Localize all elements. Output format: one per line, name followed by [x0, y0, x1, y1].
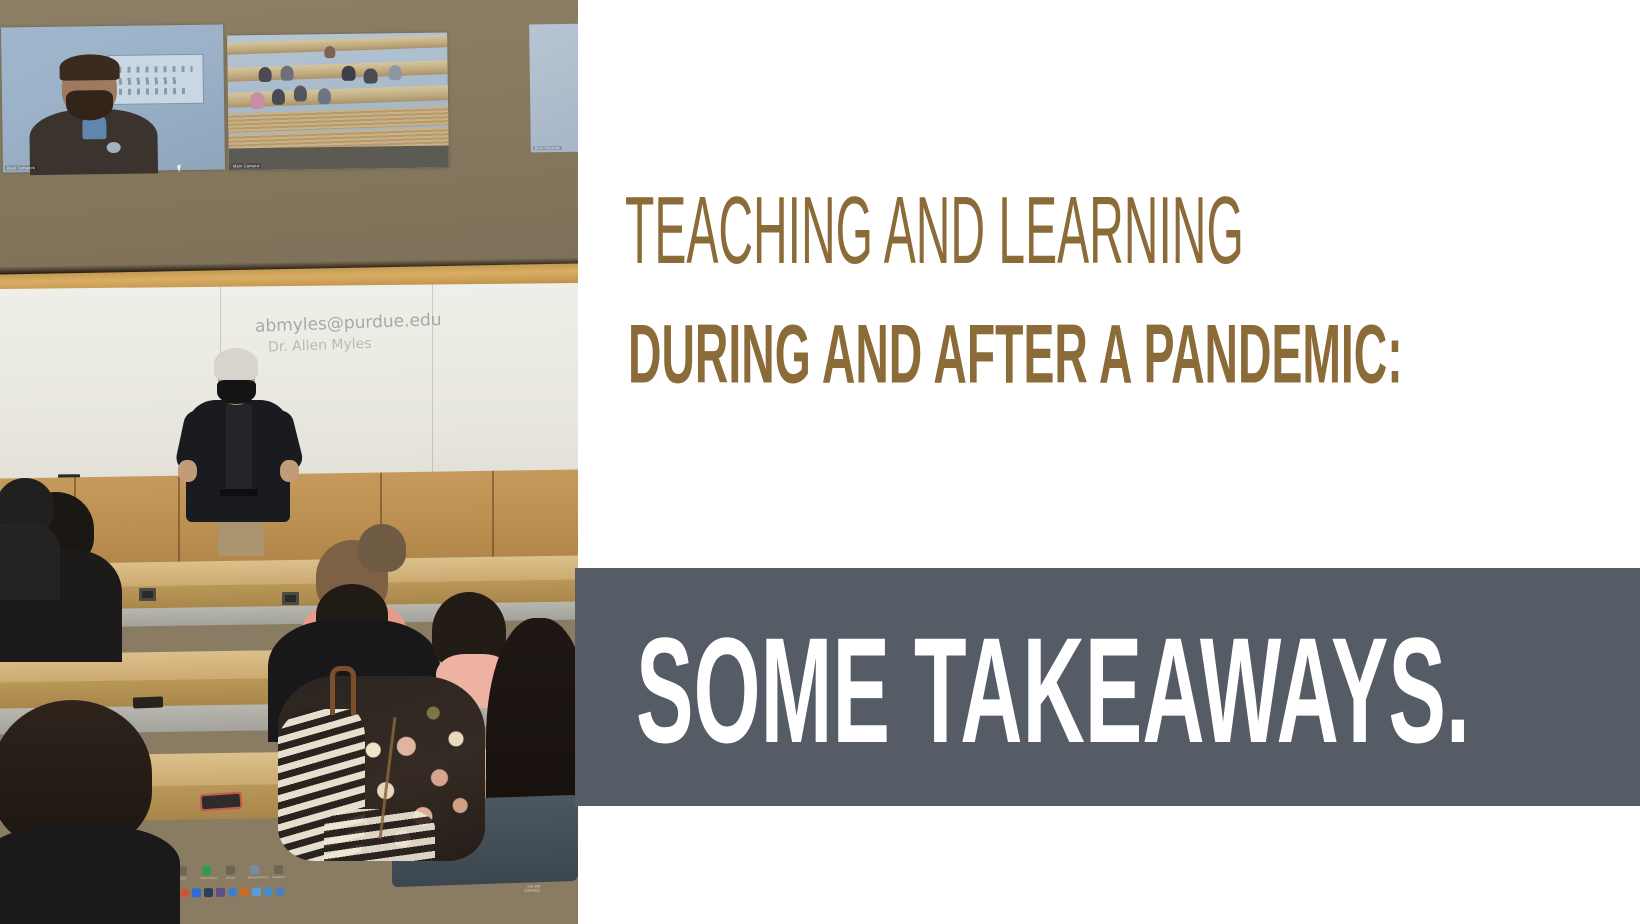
hall-student [294, 86, 307, 102]
zoom-panel-name-speaker: Brad Tomanek [5, 165, 37, 170]
onenote-icon [216, 888, 225, 897]
zoom-control-share-screen: Share Screen [200, 866, 213, 880]
red-phone-on-desk [199, 792, 242, 812]
student-torso [0, 826, 180, 924]
floral-backpack [278, 676, 485, 861]
taskbar-clock: 4:51 PM 3/29/2021 [524, 884, 540, 892]
record-icon [226, 866, 235, 875]
student-far-left [0, 478, 60, 598]
pdf-icon [240, 888, 249, 897]
zoom-panel-name-hall: Main Camera [231, 163, 261, 168]
zoom-panel-edge: Brad Tomanek [529, 24, 578, 153]
hall-student [342, 66, 355, 81]
breakout-rooms-icon [250, 865, 259, 874]
hall-student [272, 89, 285, 105]
student-foreground-left [0, 700, 170, 924]
share-screen-icon [202, 866, 211, 875]
whiteboard-text-email: abmyles@purdue.edu [255, 310, 442, 337]
title-panel: TEACHING AND LEARNING DURING AND AFTER A… [578, 0, 1640, 924]
professor-hair [214, 348, 258, 380]
zoom-panel-name-edge: Brad Tomanek [533, 146, 562, 150]
backpack-handle [330, 666, 356, 715]
hall-student [364, 69, 377, 84]
page-title-line1: TEACHING AND LEARNING [625, 182, 1615, 280]
hall-student [318, 88, 331, 104]
hall-student [388, 66, 401, 81]
teams-icon [204, 888, 213, 897]
professor-right-hand [280, 460, 299, 482]
slide-root: Brad Tomanek Main Camera Brad Tomanek [0, 0, 1640, 924]
student-head [358, 524, 406, 572]
remote-whiteboard-ink [119, 77, 177, 84]
professor-belt [220, 489, 258, 496]
takeaways-banner-text: SOME TAKEAWAYS. [636, 614, 1470, 766]
hall-student [258, 67, 271, 82]
zoom-control-reactions: Reactions [272, 865, 285, 879]
reactions-icon [274, 865, 283, 874]
remote-whiteboard-ink [119, 88, 186, 96]
power-outlet [282, 592, 299, 605]
zoom-control-breakout-rooms: Breakout Rooms [248, 865, 261, 879]
professor-left-hand [178, 460, 197, 482]
professor-face-mask [217, 380, 256, 404]
power-outlet [139, 588, 156, 601]
remote-speaker-hair [59, 53, 119, 80]
student-back-center [354, 524, 410, 594]
zoom-icon [228, 888, 237, 897]
hall-student [324, 46, 335, 58]
professor [178, 348, 326, 556]
phone-on-desk [133, 696, 163, 708]
zoom-panel-lecture-hall: Main Camera [227, 32, 449, 170]
remote-whiteboard-ink [118, 65, 193, 73]
edge-icon [264, 887, 273, 896]
page-title-line2: DURING AND AFTER A PANDEMIC: [628, 312, 1403, 398]
hall-student [250, 92, 266, 110]
browser-icon [180, 888, 189, 897]
zoom-control-record: Record [224, 866, 237, 880]
app-icon [276, 887, 285, 896]
zoom-panel-remote-speaker: Brad Tomanek [1, 24, 225, 172]
hall-floor [229, 146, 449, 171]
lecture-hall-photo: Brad Tomanek Main Camera Brad Tomanek [0, 0, 578, 924]
professor-shirt [226, 404, 252, 490]
remote-whiteboard [108, 54, 204, 105]
powerpoint-icon [252, 887, 261, 896]
hall-student [280, 66, 293, 81]
word-icon [192, 888, 201, 897]
student-torso [0, 522, 60, 600]
hall-bench [227, 35, 449, 55]
